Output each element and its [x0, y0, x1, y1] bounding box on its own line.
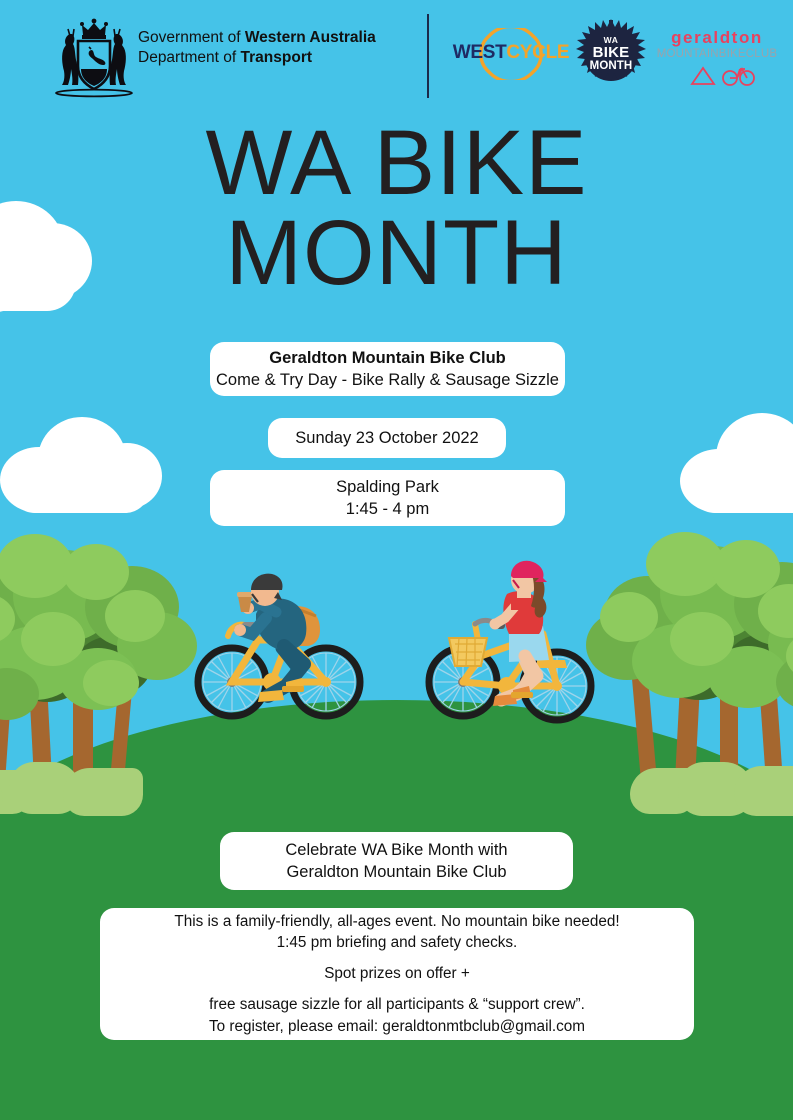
gov-line1-bold: Western Australia: [245, 29, 376, 46]
details-line-1: This is a family-friendly, all-ages even…: [174, 911, 619, 933]
tree-cluster-right: [600, 512, 793, 822]
gov-line2-prefix: Department of: [138, 49, 241, 66]
mountain-and-bicycle-icon: [652, 62, 782, 88]
westcycle-text-west: WEST: [453, 42, 507, 63]
details-line-3: Spot prizes on offer +: [324, 963, 470, 985]
gov-line1-prefix: Government of: [138, 29, 245, 46]
westcycle-logo: WESTCYCLE: [452, 28, 570, 80]
tree-cluster-left: [0, 520, 205, 820]
venue-name: Spalding Park: [336, 476, 439, 498]
geraldton-mtb-club-logo: geraldton MOUNTAINBIKECLUB: [652, 28, 782, 88]
title-line-1: WA BIKE: [206, 112, 588, 214]
page-title: WA BIKE MONTH: [0, 118, 793, 298]
geraldton-subtitle: MOUNTAINBIKECLUB: [652, 48, 782, 60]
gov-line2-bold: Transport: [241, 49, 312, 66]
poster: Government of Western Australia Departme…: [0, 0, 793, 1120]
government-wordmark: Government of Western Australia Departme…: [138, 28, 376, 69]
poster-header: Government of Western Australia Departme…: [0, 0, 793, 112]
venue-time: 1:45 - 4 pm: [346, 498, 429, 520]
club-heading: Geraldton Mountain Bike Club: [269, 347, 506, 369]
details-line-4: free sausage sizzle for all participants…: [209, 994, 585, 1016]
celebrate-box: Celebrate WA Bike Month with Geraldton M…: [220, 832, 573, 890]
westcycle-text-cycle: CYCLE: [506, 42, 569, 63]
details-line-2: 1:45 pm briefing and safety checks.: [277, 932, 518, 954]
title-line-2: MONTH: [0, 208, 793, 298]
club-info-box: Geraldton Mountain Bike Club Come & Try …: [210, 342, 565, 396]
venue-box: Spalding Park 1:45 - 4 pm: [210, 470, 565, 526]
date-box: Sunday 23 October 2022: [268, 418, 506, 458]
wa-coat-of-arms-icon: [48, 14, 140, 102]
badge-line-month: MONTH: [590, 60, 633, 72]
celebrate-line-1: Celebrate WA Bike Month with: [285, 839, 507, 861]
male-cyclist-with-coffee: [190, 560, 370, 725]
event-details-box: This is a family-friendly, all-ages even…: [100, 908, 694, 1040]
header-divider: [427, 14, 429, 98]
geraldton-name: geraldton: [652, 28, 782, 48]
female-cyclist-with-basket: [425, 560, 600, 725]
wa-bike-month-badge: WA BIKE MONTH: [576, 18, 646, 90]
date-text: Sunday 23 October 2022: [295, 427, 478, 449]
badge-line-bike: BIKE: [593, 45, 630, 61]
club-subheading: Come & Try Day - Bike Rally & Sausage Si…: [216, 369, 559, 391]
details-line-5: To register, please email: geraldtonmtbc…: [209, 1016, 585, 1038]
celebrate-line-2: Geraldton Mountain Bike Club: [286, 861, 506, 883]
